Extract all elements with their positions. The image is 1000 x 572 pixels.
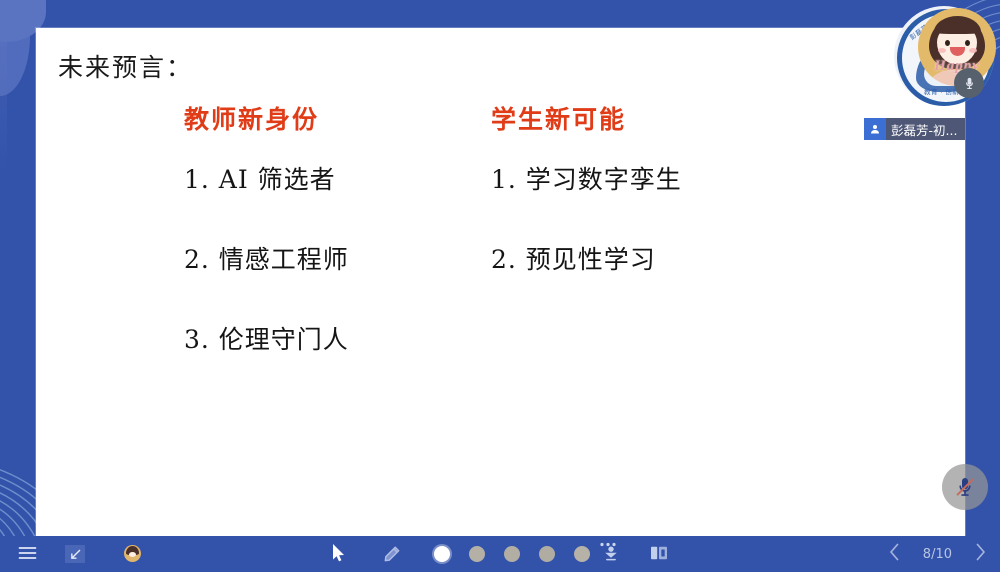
list-item: 1. 学习数字孪生 [491, 160, 821, 196]
collapse-icon [65, 545, 85, 563]
presenter-avatar-icon[interactable] [124, 545, 141, 562]
color-swatch-white[interactable] [434, 546, 450, 562]
prev-page-button[interactable] [889, 543, 901, 565]
column-heading: 教师新身份 [184, 100, 484, 136]
participant-name: 彭磊芳-初... [891, 120, 957, 139]
color-swatch-gray-4[interactable] [574, 546, 590, 562]
color-swatch-gray-2[interactable] [504, 546, 520, 562]
participant-avatar-group: 彭磊芳中学 教育 · 创新 Happy [894, 6, 994, 106]
avatar-eye-left [945, 40, 950, 46]
column-teacher-roles: 教师新身份 1. AI 筛选者 2. 情感工程师 3. 伦理守门人 [184, 100, 484, 356]
list-item: 2. 情感工程师 [184, 240, 484, 276]
avatar-cheek-right [969, 48, 977, 53]
bottom-toolbar: 8/10 [0, 536, 1000, 572]
slide-canvas: 未来预言： 教师新身份 1. AI 筛选者 2. 情感工程师 3. 伦理守门人 … [36, 28, 965, 536]
column-heading: 学生新可能 [491, 100, 821, 136]
presentation-stage: 未来预言： 教师新身份 1. AI 筛选者 2. 情感工程师 3. 伦理守门人 … [0, 0, 1000, 572]
badge-text-bottom: 教育 · 创新 [924, 90, 959, 97]
list-item: 2. 预见性学习 [491, 240, 821, 276]
slide-title: 未来预言： [58, 48, 193, 84]
eraser-icon[interactable] [602, 545, 620, 563]
collapse-button[interactable] [65, 545, 85, 563]
next-page-button[interactable] [974, 543, 986, 565]
mute-toggle-button[interactable] [942, 464, 988, 510]
presenter-avatar [124, 545, 141, 562]
participant-video-tile[interactable]: 彭磊芳中学 教育 · 创新 Happy [858, 0, 1000, 158]
list-item: 3. 伦理守门人 [184, 320, 484, 356]
color-swatch-gray-3[interactable] [539, 546, 555, 562]
list-item: 1. AI 筛选者 [184, 160, 484, 196]
person-icon [864, 118, 886, 140]
menu-icon[interactable] [18, 545, 37, 561]
avatar-eye-right [965, 40, 970, 46]
column-student-possibilities: 学生新可能 1. 学习数字孪生 2. 预见性学习 [491, 100, 821, 276]
mic-muted-icon[interactable] [954, 68, 984, 98]
cursor-pointer-icon[interactable] [332, 544, 346, 562]
page-navigation: 8/10 [889, 536, 986, 572]
participant-name-pill: 彭磊芳-初... [864, 118, 965, 140]
pen-icon[interactable] [383, 545, 401, 563]
avatar-bangs [934, 16, 981, 34]
layout-icon[interactable] [650, 545, 668, 561]
avatar-cheek-left [938, 48, 946, 53]
color-swatch-gray-1[interactable] [469, 546, 485, 562]
page-indicator: 8/10 [923, 547, 952, 562]
